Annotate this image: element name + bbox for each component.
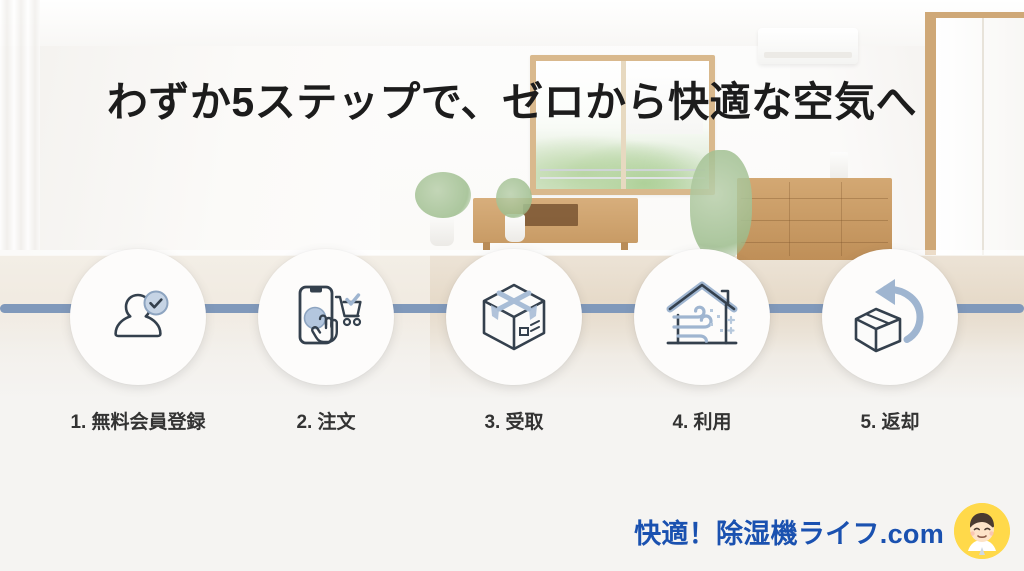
slide-canvas: わずか5ステップで、ゼロから快適な空気へ 1. 無料会員登録 <box>0 0 1024 571</box>
step-item-3[interactable]: 3. 受取 <box>446 249 582 434</box>
box-return-arrow-icon <box>848 275 932 359</box>
smartphone-tap-cart-icon <box>284 275 368 359</box>
step-item-2[interactable]: 2. 注文 <box>258 249 394 434</box>
house-airflow-icon <box>660 275 744 359</box>
step-label-1: 1. 無料会員登録 <box>70 407 206 434</box>
step-icon-circle-2[interactable] <box>258 249 394 385</box>
steps-row: 1. 無料会員登録 2. 注文 <box>0 0 1024 571</box>
step-icon-circle-4[interactable] <box>634 249 770 385</box>
brand-name-text: 快適！除湿機ライフ.com <box>634 512 944 551</box>
step-item-5[interactable]: 5. 返却 <box>822 249 958 434</box>
step-label-5: 5. 返却 <box>822 407 958 434</box>
step-label-4: 4. 利用 <box>634 407 770 434</box>
site-mascot-avatar <box>954 503 1010 559</box>
step-label-2: 2. 注文 <box>258 407 394 434</box>
step-icon-circle-3[interactable] <box>446 249 582 385</box>
site-brand[interactable]: 快適！除湿機ライフ.com <box>634 503 1010 559</box>
step-item-4[interactable]: 4. 利用 <box>634 249 770 434</box>
package-box-icon <box>472 275 556 359</box>
step-item-1[interactable]: 1. 無料会員登録 <box>70 249 206 434</box>
step-label-3: 3. 受取 <box>446 407 582 434</box>
mascot-face-icon <box>954 503 1010 559</box>
step-icon-circle-5[interactable] <box>822 249 958 385</box>
step-icon-circle-1[interactable] <box>70 249 206 385</box>
user-check-icon <box>96 275 180 359</box>
